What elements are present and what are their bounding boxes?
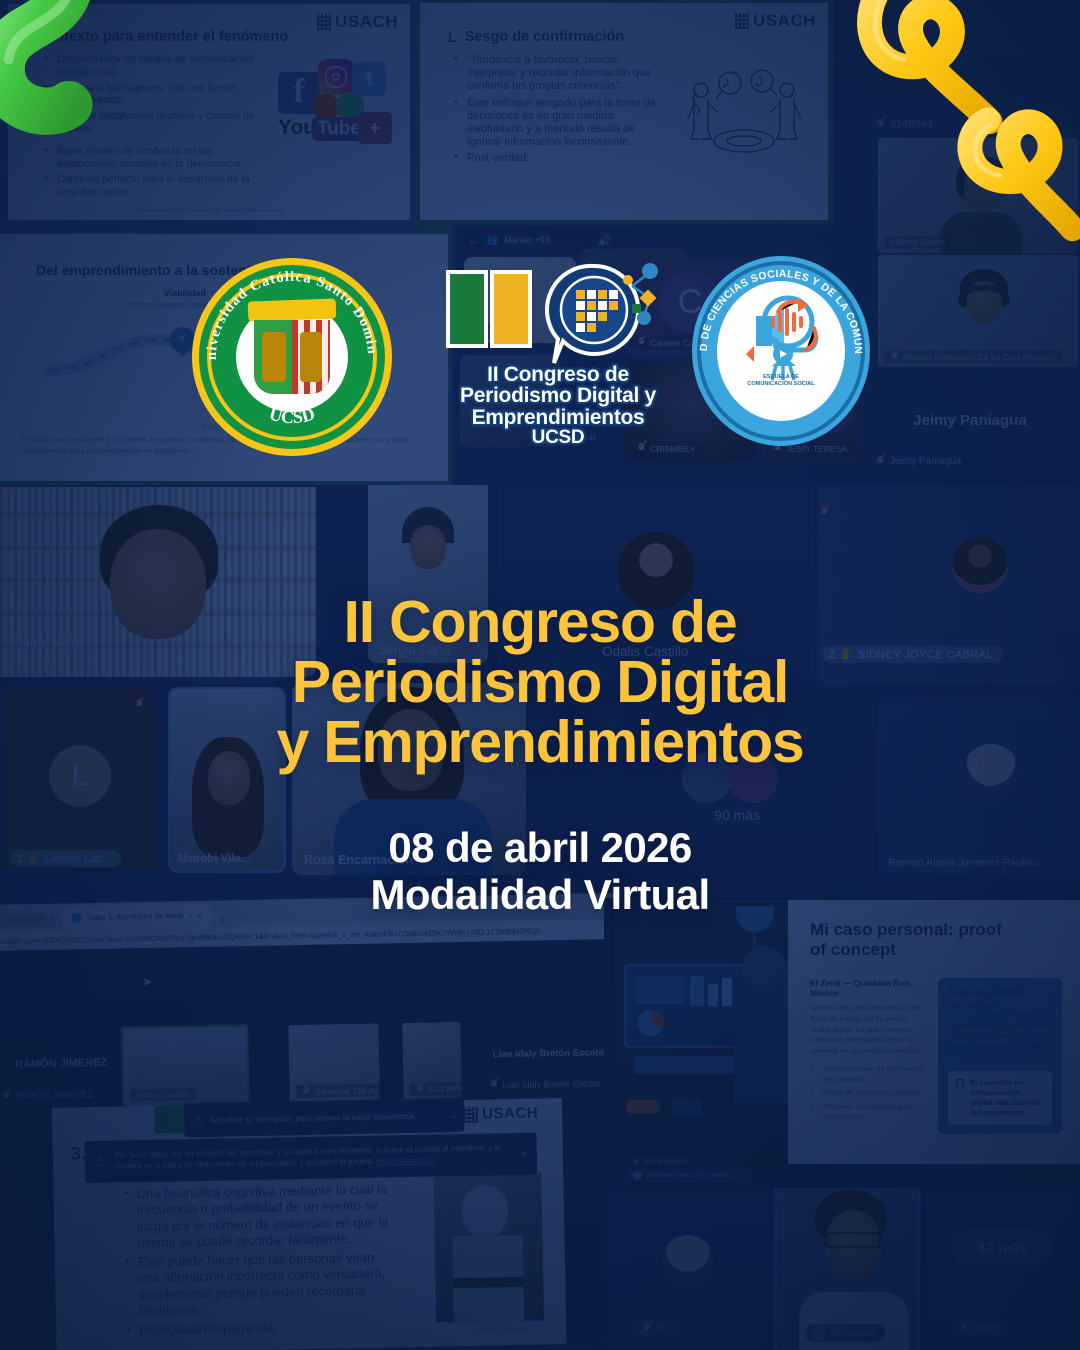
svg-text:UCSD: UCSD	[267, 403, 317, 427]
congress-wordmark: II Congreso de Periodismo Digital y Empr…	[433, 364, 683, 448]
seal-acronym: UCSD	[267, 403, 317, 427]
event-mode: Modalidad Virtual	[0, 871, 1080, 918]
coat-of-arms	[254, 310, 330, 402]
ucsd-university-seal: Universidad Católica Santo Domingo UCSD	[192, 258, 392, 456]
congress-globe-icon	[524, 256, 674, 376]
green-swirl-decoration	[0, 0, 157, 167]
poster-canvas: USACH Contexto para entender el fenómeno…	[0, 0, 1080, 1350]
headline-line: y Emprendimientos	[0, 712, 1080, 772]
event-date: 08 de abril 2026	[0, 824, 1080, 871]
headline-line: II Congreso de	[0, 592, 1080, 652]
logo-row: Universidad Católica Santo Domingo UCSD	[0, 248, 1080, 463]
poster-subline: 08 de abril 2026 Modalidad Virtual	[0, 824, 1080, 918]
headline-line: Periodismo Digital	[0, 652, 1080, 712]
congress-monogram	[446, 270, 536, 348]
poster-headline: II Congreso de Periodismo Digital y Empr…	[0, 592, 1080, 773]
faculty-seal: FACULTAD DE CIENCIAS SOCIALES Y DE LA CO…	[692, 256, 870, 446]
faculty-inner-text: ESCUELA DE COMUNICACIÓN SOCIAL	[692, 374, 870, 388]
yellow-swirl-decoration	[844, 0, 1080, 246]
congress-logo: II Congreso de Periodismo Digital y Empr…	[432, 248, 684, 463]
